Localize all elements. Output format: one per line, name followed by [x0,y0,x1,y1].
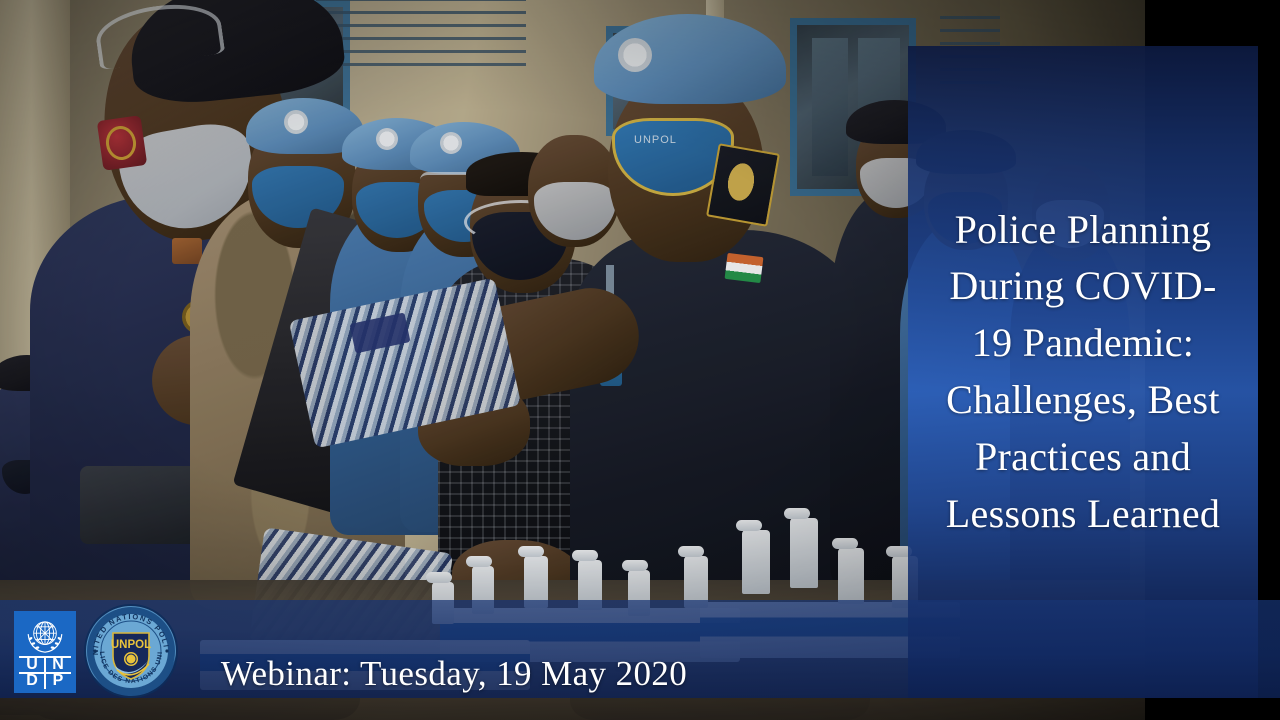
page-title: Police PlanningDuring COVID-19 Pandemic:… [946,202,1220,543]
sanitizer-bottle [742,530,770,594]
webinar-promo-slide: UNPOL [0,0,1280,720]
title-line: Lessons Learned [946,486,1220,543]
title-line: Practices and [946,429,1220,486]
title-line: During COVID- [946,258,1220,315]
sanitizer-bottle [838,548,864,604]
window-pane [812,38,848,176]
title-line: 19 Pandemic: [946,315,1220,372]
sanitizer-bottle [790,518,818,588]
webinar-date-line: Webinar: Tuesday, 19 May 2020 [0,648,908,700]
utility-pouch [80,466,202,544]
title-line: Police Planning [946,202,1220,259]
title-line: Challenges, Best [946,372,1220,429]
un-beret-badge [284,110,308,134]
balcony-rail [316,0,526,66]
un-beret-badge [618,38,652,72]
unpol-mask-text: UNPOL [634,134,677,146]
un-beret-badge [440,132,462,154]
niger-flag-patch [725,253,764,283]
un-beret-badge [376,128,398,150]
chest-patch [172,238,202,264]
